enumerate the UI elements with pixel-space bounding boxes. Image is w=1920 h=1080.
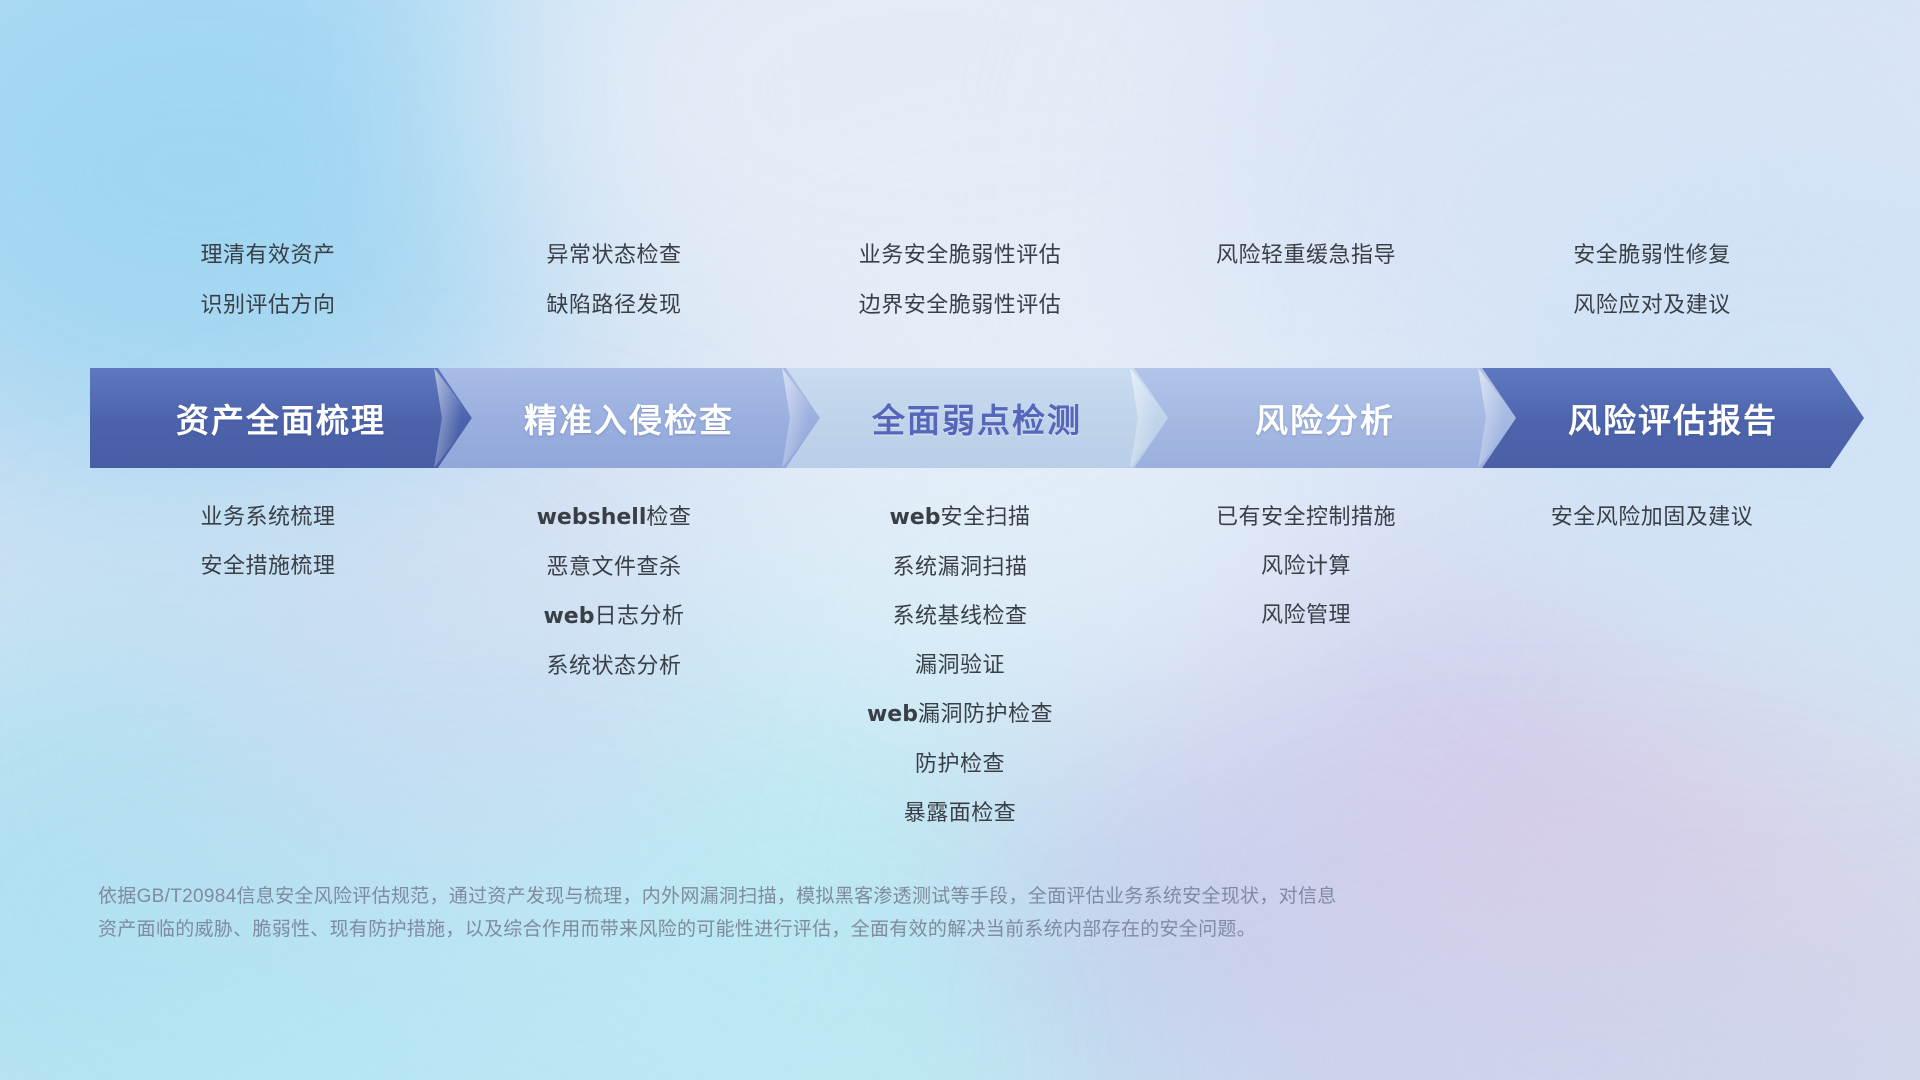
detail-item: 恶意文件查杀 xyxy=(441,542,787,591)
stage-banner-label: 全面弱点检测 xyxy=(872,394,1082,442)
top-annotation-item: 边界安全脆弱性评估 xyxy=(787,280,1133,330)
stage-banner-label: 风险评估报告 xyxy=(1568,394,1778,442)
stage-banner-strip: 资产全面梳理 精准入侵检查 全面弱点检测 风险分析 风险评估报告 xyxy=(90,368,1830,468)
stage-banner-asset-inventory[interactable]: 资产全面梳理 xyxy=(90,368,472,468)
cjk-suffix: 日志分析 xyxy=(594,603,684,628)
footer-line-2: 资产面临的威胁、脆弱性、现有防护措施，以及综合作用而带来风险的可能性进行评估，全… xyxy=(98,913,1658,946)
bottom-details-row: 业务系统梳理 安全措施梳理 webshell检查 恶意文件查杀 web日志分析 … xyxy=(95,492,1825,837)
stage-banner-label: 风险分析 xyxy=(1255,394,1395,442)
top-annotation-item: 异常状态检查 xyxy=(441,230,787,280)
latin-prefix: webshell xyxy=(537,505,647,530)
detail-item: web安全扫描 xyxy=(787,492,1133,542)
stage-banner-label: 精准入侵检查 xyxy=(524,394,734,442)
detail-item: 系统基线检查 xyxy=(787,591,1133,640)
footer-line-1: 依据GB/T20984信息安全风险评估规范，通过资产发现与梳理，内外网漏洞扫描，… xyxy=(98,880,1658,913)
top-annotations-col-2: 异常状态检查 缺陷路径发现 xyxy=(441,230,787,330)
top-annotations-col-4: 风险轻重缓急指导 xyxy=(1133,230,1479,330)
bottom-details-col-5: 安全风险加固及建议 xyxy=(1479,492,1825,541)
top-annotation-item: 缺陷路径发现 xyxy=(441,280,787,330)
top-annotation-item: 安全脆弱性修复 xyxy=(1479,230,1825,280)
bottom-details-col-2: webshell检查 恶意文件查杀 web日志分析 系统状态分析 xyxy=(441,492,787,690)
detail-item: 系统漏洞扫描 xyxy=(787,542,1133,591)
top-annotations-col-1: 理清有效资产 识别评估方向 xyxy=(95,230,441,330)
detail-item: 风险计算 xyxy=(1133,541,1479,590)
cjk-suffix: 漏洞防护检查 xyxy=(918,701,1053,726)
detail-item: 已有安全控制措施 xyxy=(1133,492,1479,541)
top-annotation-item: 风险应对及建议 xyxy=(1479,280,1825,330)
cjk-suffix: 安全扫描 xyxy=(940,504,1030,529)
top-annotations-row: 理清有效资产 识别评估方向 异常状态检查 缺陷路径发现 业务安全脆弱性评估 边界… xyxy=(95,230,1825,330)
detail-item: 风险管理 xyxy=(1133,590,1479,639)
detail-item: 业务系统梳理 xyxy=(95,492,441,541)
detail-item: 漏洞验证 xyxy=(787,640,1133,689)
top-annotation-item: 理清有效资产 xyxy=(95,230,441,280)
process-diagram: 理清有效资产 识别评估方向 异常状态检查 缺陷路径发现 业务安全脆弱性评估 边界… xyxy=(0,0,1920,1080)
stage-banner-weakness-detection[interactable]: 全面弱点检测 xyxy=(786,368,1168,468)
stage-banner-label: 资产全面梳理 xyxy=(176,394,386,442)
top-annotation-item: 识别评估方向 xyxy=(95,280,441,330)
top-annotation-item: 风险轻重缓急指导 xyxy=(1133,230,1479,280)
detail-item: web日志分析 xyxy=(441,591,787,641)
top-annotations-col-3: 业务安全脆弱性评估 边界安全脆弱性评估 xyxy=(787,230,1133,330)
top-annotations-col-5: 安全脆弱性修复 风险应对及建议 xyxy=(1479,230,1825,330)
stage-banner-risk-report[interactable]: 风险评估报告 xyxy=(1482,368,1864,468)
latin-prefix: web xyxy=(889,505,940,530)
footer-description: 依据GB/T20984信息安全风险评估规范，通过资产发现与梳理，内外网漏洞扫描，… xyxy=(98,880,1658,946)
bottom-details-col-4: 已有安全控制措施 风险计算 风险管理 xyxy=(1133,492,1479,639)
stage-banner-intrusion-check[interactable]: 精准入侵检查 xyxy=(438,368,820,468)
detail-item: 安全风险加固及建议 xyxy=(1479,492,1825,541)
latin-prefix: web xyxy=(543,604,594,629)
detail-item: 安全措施梳理 xyxy=(95,541,441,590)
bottom-details-col-3: web安全扫描 系统漏洞扫描 系统基线检查 漏洞验证 web漏洞防护检查 防护检… xyxy=(787,492,1133,837)
stage-banner-risk-analysis[interactable]: 风险分析 xyxy=(1134,368,1516,468)
detail-item: web漏洞防护检查 xyxy=(787,689,1133,739)
detail-item: 防护检查 xyxy=(787,739,1133,788)
latin-prefix: web xyxy=(867,702,918,727)
cjk-suffix: 检查 xyxy=(646,504,691,529)
top-annotation-item: 业务安全脆弱性评估 xyxy=(787,230,1133,280)
detail-item: 系统状态分析 xyxy=(441,641,787,690)
bottom-details-col-1: 业务系统梳理 安全措施梳理 xyxy=(95,492,441,590)
detail-item: 暴露面检查 xyxy=(787,788,1133,837)
detail-item: webshell检查 xyxy=(441,492,787,542)
